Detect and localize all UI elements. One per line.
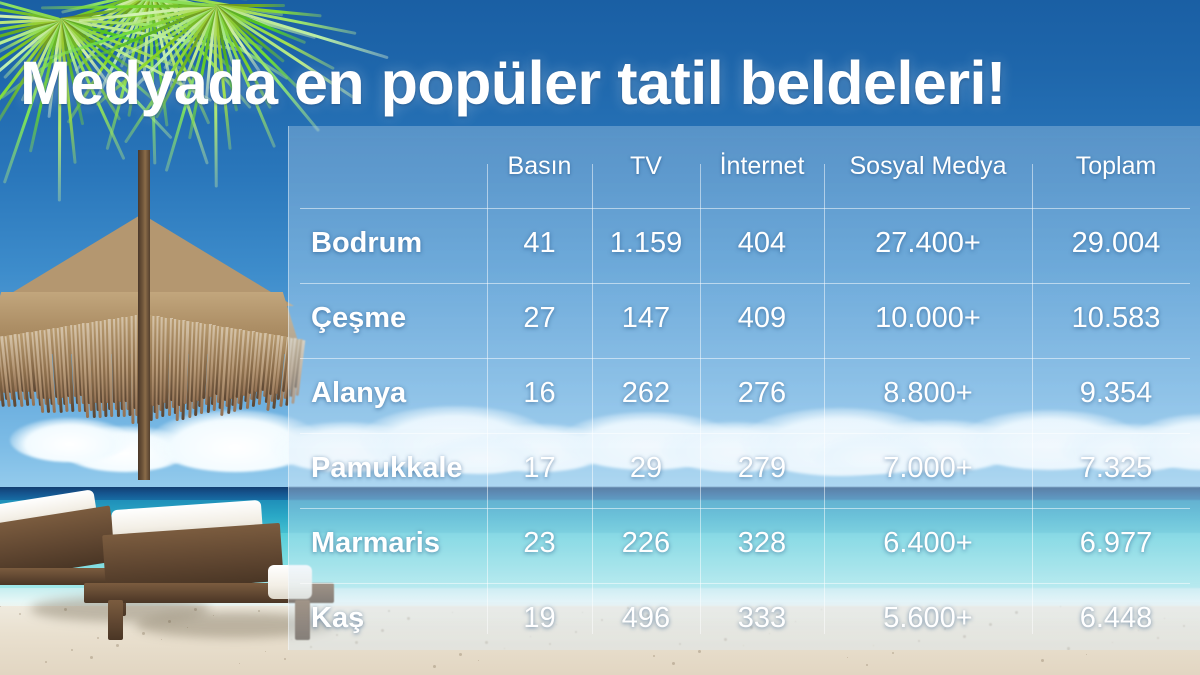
table-cell: 27.400+ xyxy=(824,227,1032,260)
data-table: BasınTVİnternetSosyal MedyaToplam Bodrum… xyxy=(288,126,1200,650)
thatched-parasol xyxy=(0,214,302,414)
table-cell: 7.325 xyxy=(1032,452,1200,485)
table-cell: 16 xyxy=(487,377,592,410)
table-cell: 276 xyxy=(700,377,824,410)
row-label: Çeşme xyxy=(311,302,406,335)
column-header: Sosyal Medya xyxy=(824,152,1032,181)
row-label: Marmaris xyxy=(311,527,440,560)
table-cell: 23 xyxy=(487,527,592,560)
row-divider xyxy=(300,358,1190,359)
table-cell: 10.583 xyxy=(1032,302,1200,335)
table-cell: 7.000+ xyxy=(824,452,1032,485)
table-cell: 41 xyxy=(487,227,592,260)
table-cell: 9.354 xyxy=(1032,377,1200,410)
row-label: Pamukkale xyxy=(311,452,463,485)
table-cell: 1.159 xyxy=(592,227,700,260)
column-header: İnternet xyxy=(700,152,824,181)
table-cell: 10.000+ xyxy=(824,302,1032,335)
table-cell: 8.800+ xyxy=(824,377,1032,410)
row-divider xyxy=(300,283,1190,284)
sand-speck xyxy=(672,662,675,665)
row-label: Bodrum xyxy=(311,227,422,260)
table-cell: 262 xyxy=(592,377,700,410)
table-cell: 19 xyxy=(487,602,592,635)
table-cell: 147 xyxy=(592,302,700,335)
sand-speck xyxy=(847,657,848,658)
sand-speck xyxy=(866,664,868,666)
column-header: Toplam xyxy=(1032,152,1200,181)
table-cell: 409 xyxy=(700,302,824,335)
table-cell: 6.977 xyxy=(1032,527,1200,560)
table-cell: 29.004 xyxy=(1032,227,1200,260)
row-divider xyxy=(300,433,1190,434)
page-title: Medyada en popüler tatil beldeleri! xyxy=(20,48,1006,118)
sand-speck xyxy=(653,655,655,657)
infographic-canvas: Medyada en popüler tatil beldeleri! Bası… xyxy=(0,0,1200,675)
column-header: Basın xyxy=(487,152,592,181)
row-divider xyxy=(300,208,1190,209)
row-divider xyxy=(300,508,1190,509)
sand-speck xyxy=(478,660,479,661)
row-divider xyxy=(300,583,1190,584)
table-cell: 17 xyxy=(487,452,592,485)
table-cell: 6.448 xyxy=(1032,602,1200,635)
row-label: Kaş xyxy=(311,602,364,635)
table-cell: 496 xyxy=(592,602,700,635)
row-label: Alanya xyxy=(311,377,406,410)
table-cell: 226 xyxy=(592,527,700,560)
sand-speck xyxy=(459,653,462,656)
column-header: TV xyxy=(592,152,700,181)
table-cell: 279 xyxy=(700,452,824,485)
table-cell: 5.600+ xyxy=(824,602,1032,635)
sand-speck xyxy=(433,665,436,668)
table-cell: 29 xyxy=(592,452,700,485)
sand-speck xyxy=(698,650,701,653)
sand-speck xyxy=(1086,654,1087,655)
table-cell: 404 xyxy=(700,227,824,260)
table-cell: 333 xyxy=(700,602,824,635)
table-cell: 27 xyxy=(487,302,592,335)
table-cell: 328 xyxy=(700,527,824,560)
table-cell: 6.400+ xyxy=(824,527,1032,560)
parasol-pole xyxy=(138,150,150,480)
sand-speck xyxy=(892,652,894,654)
sand-speck xyxy=(1041,659,1044,662)
